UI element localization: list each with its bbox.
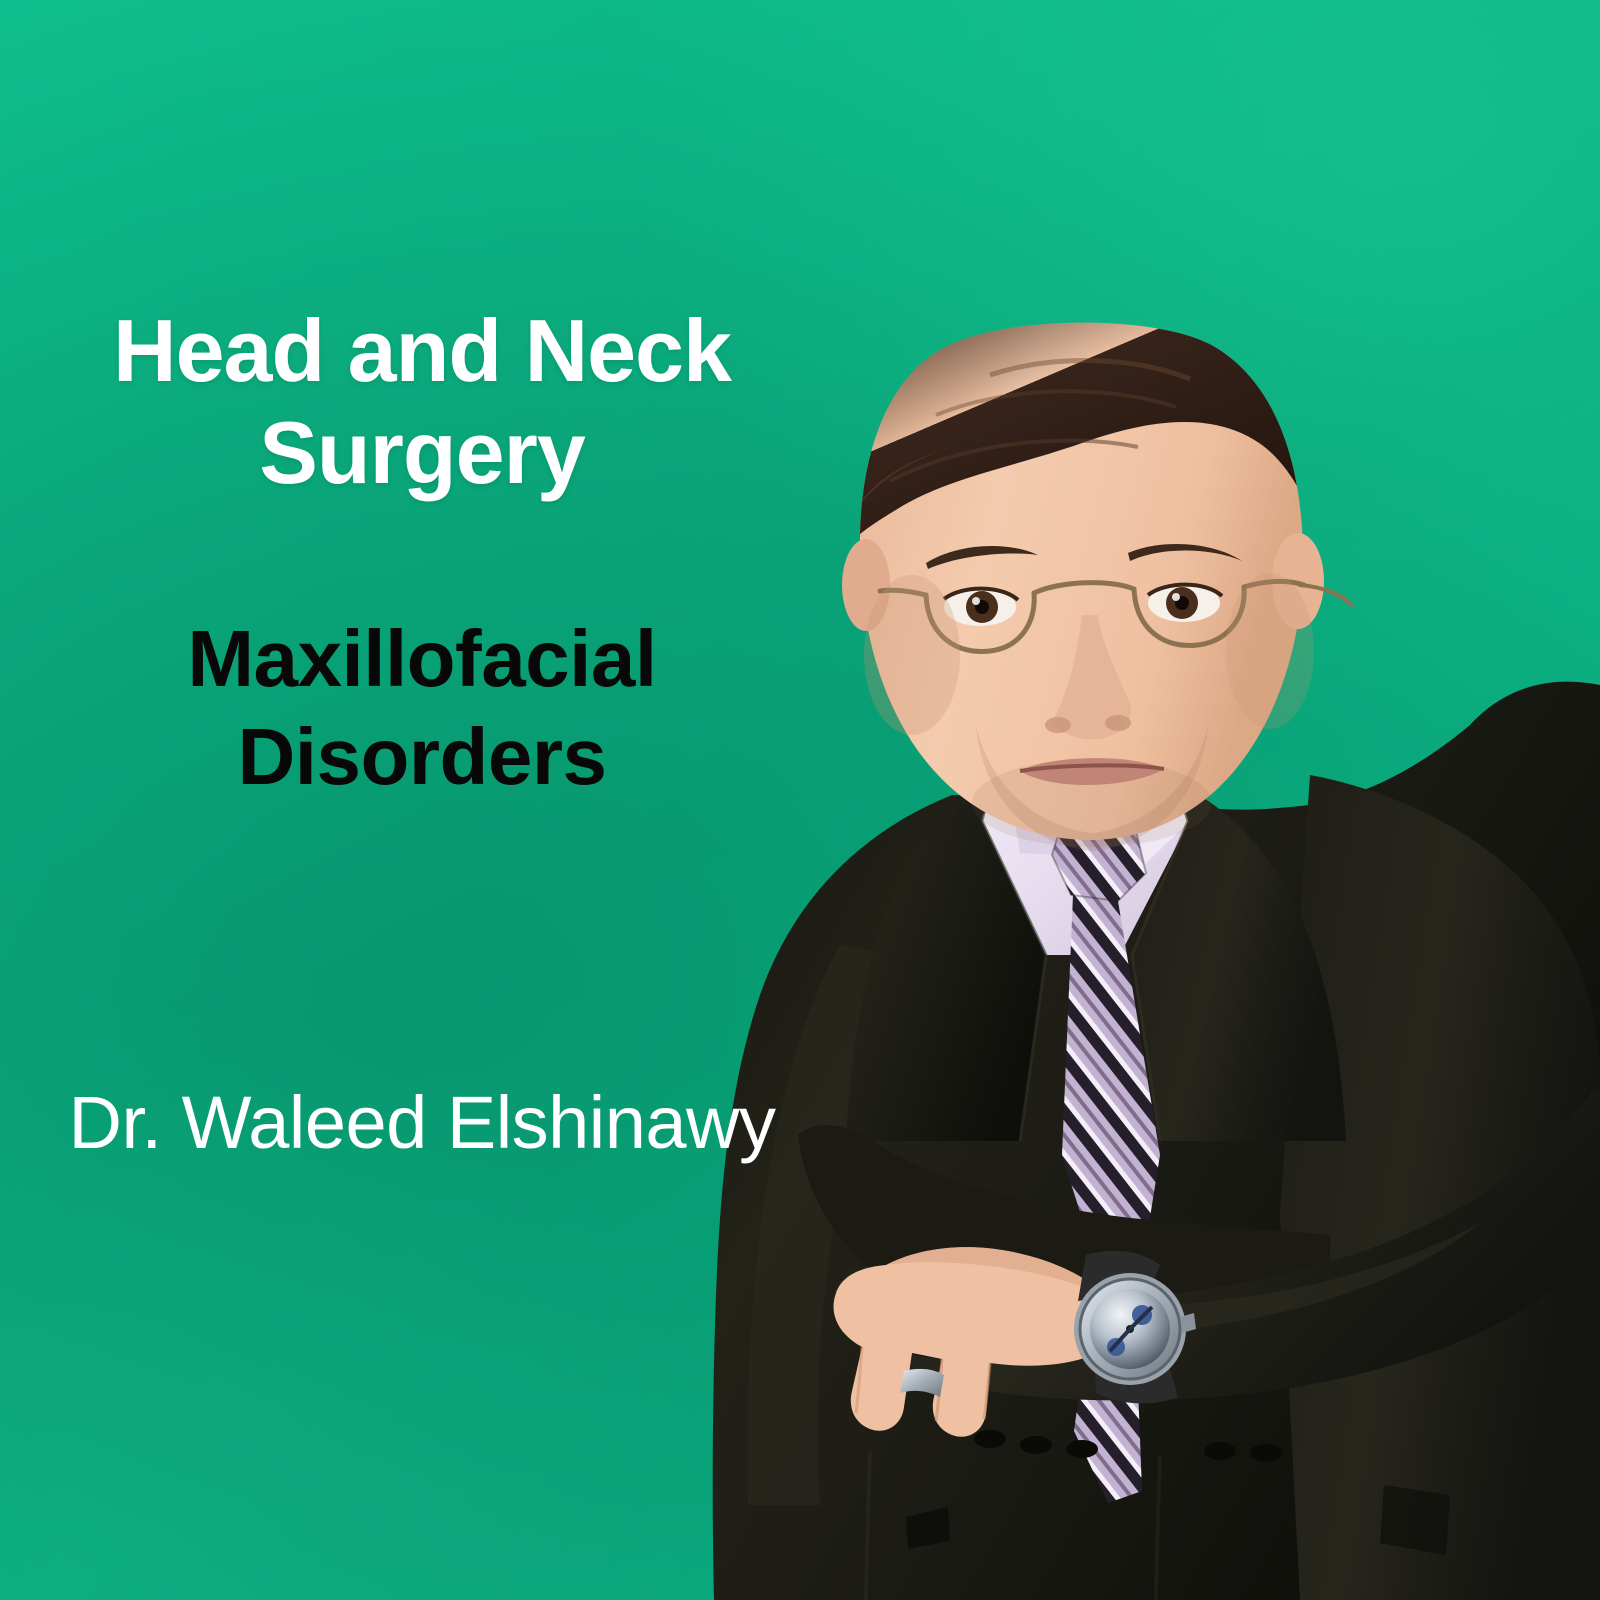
head — [838, 296, 1352, 851]
subtitle-line-1: Maxillofacial — [62, 610, 782, 708]
jacket-button-5 — [1250, 1444, 1282, 1462]
title-line-2: Surgery — [62, 402, 782, 504]
author-name: Dr. Waleed Elshinawy — [62, 1082, 782, 1163]
cheek-shadow-left — [864, 575, 960, 735]
page-subtitle: Maxillofacial Disorders — [62, 610, 782, 805]
subtitle-line-2: Disorders — [62, 708, 782, 806]
stubble-shading — [972, 759, 1212, 847]
nostril-right — [1105, 715, 1131, 731]
poster-canvas: Head and Neck Surgery Maxillofacial Diso… — [0, 0, 1600, 1600]
jacket-button-4 — [1204, 1442, 1236, 1460]
nostril-left — [1045, 717, 1071, 733]
jacket-pocket-right — [1380, 1485, 1450, 1555]
jacket-button-2 — [1020, 1436, 1052, 1454]
cheek-shadow-right — [1226, 573, 1314, 729]
portrait-photo — [690, 255, 1600, 1600]
jacket-button-1 — [974, 1430, 1006, 1448]
page-title: Head and Neck Surgery — [62, 300, 782, 504]
title-line-1: Head and Neck — [62, 300, 782, 402]
jacket-button-3 — [1066, 1440, 1098, 1458]
text-column: Head and Neck Surgery Maxillofacial Diso… — [62, 300, 782, 805]
